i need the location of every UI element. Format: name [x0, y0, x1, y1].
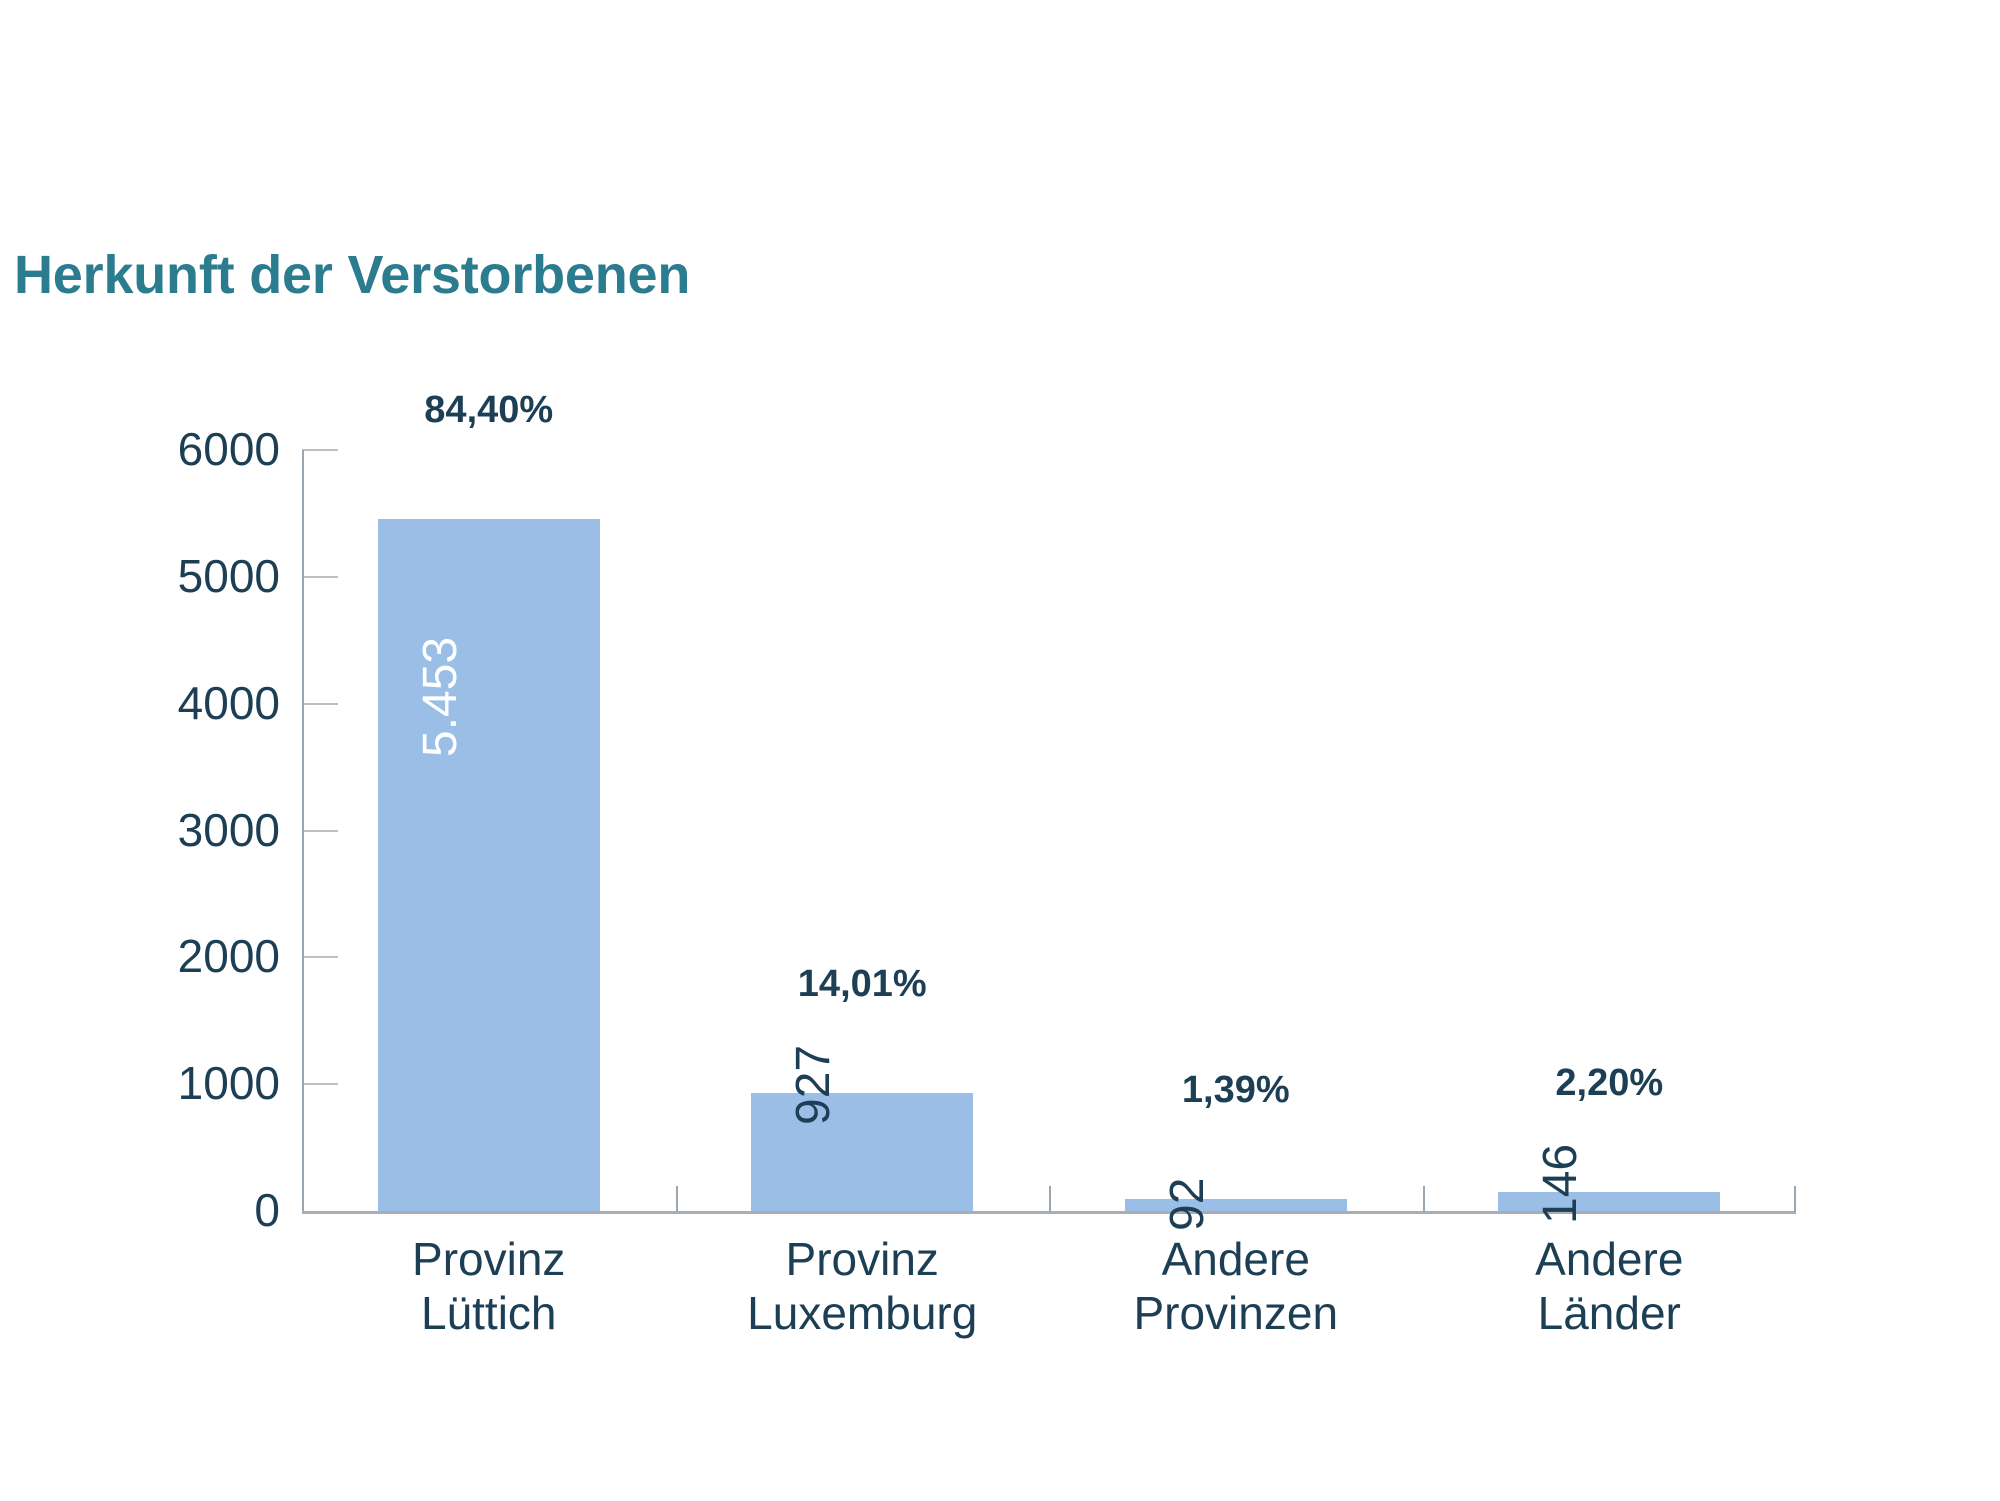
- bar-percent-label: 14,01%: [616, 965, 1110, 1003]
- x-axis-category-label: AndereProvinzen: [1049, 1232, 1423, 1341]
- x-axis-category-label: ProvinzLuxemburg: [676, 1232, 1050, 1341]
- category-label-line-1: Andere: [1049, 1232, 1423, 1286]
- y-axis-tick-label: 4000: [120, 680, 280, 726]
- bar-value-label: 927: [790, 1045, 838, 1125]
- category-label-line-2: Luxemburg: [676, 1286, 1050, 1340]
- bar-value-label: 5.453: [417, 637, 465, 757]
- category-label-line-1: Andere: [1423, 1232, 1797, 1286]
- bar-andere-laender[interactable]: [1498, 1192, 1720, 1211]
- bar-value-label: 146: [1537, 1144, 1585, 1224]
- y-axis-tick-label: 6000: [120, 426, 280, 472]
- category-label-line-2: Provinzen: [1049, 1286, 1423, 1340]
- chart-container: Herkunft der Verstorbenen 60005000400030…: [0, 0, 2000, 1501]
- x-axis-category-label: AndereLänder: [1423, 1232, 1797, 1341]
- x-axis-category-label: ProvinzLüttich: [302, 1232, 676, 1341]
- y-axis-tick-label: 1000: [120, 1060, 280, 1106]
- bar-percent-label: 84,40%: [242, 391, 736, 429]
- bar-provinz-luxemburg[interactable]: [751, 1093, 973, 1211]
- y-axis-tick-labels: 6000500040003000200010000: [105, 0, 280, 1501]
- bar-andere-provinzen[interactable]: [1125, 1199, 1347, 1211]
- category-label-line-1: Provinz: [302, 1232, 676, 1286]
- y-axis-tick-label: 5000: [120, 553, 280, 599]
- bar-value-label: 92: [1164, 1178, 1212, 1231]
- y-axis-tick-label: 2000: [120, 933, 280, 979]
- bar-provinz-luettich[interactable]: [378, 519, 600, 1211]
- bar-percent-label: 2,20%: [1363, 1064, 1857, 1102]
- category-label-line-1: Provinz: [676, 1232, 1050, 1286]
- category-label-line-2: Lüttich: [302, 1286, 676, 1340]
- category-label-line-2: Länder: [1423, 1286, 1797, 1340]
- y-axis-tick-label: 3000: [120, 807, 280, 853]
- y-axis-tick-label: 0: [120, 1187, 280, 1233]
